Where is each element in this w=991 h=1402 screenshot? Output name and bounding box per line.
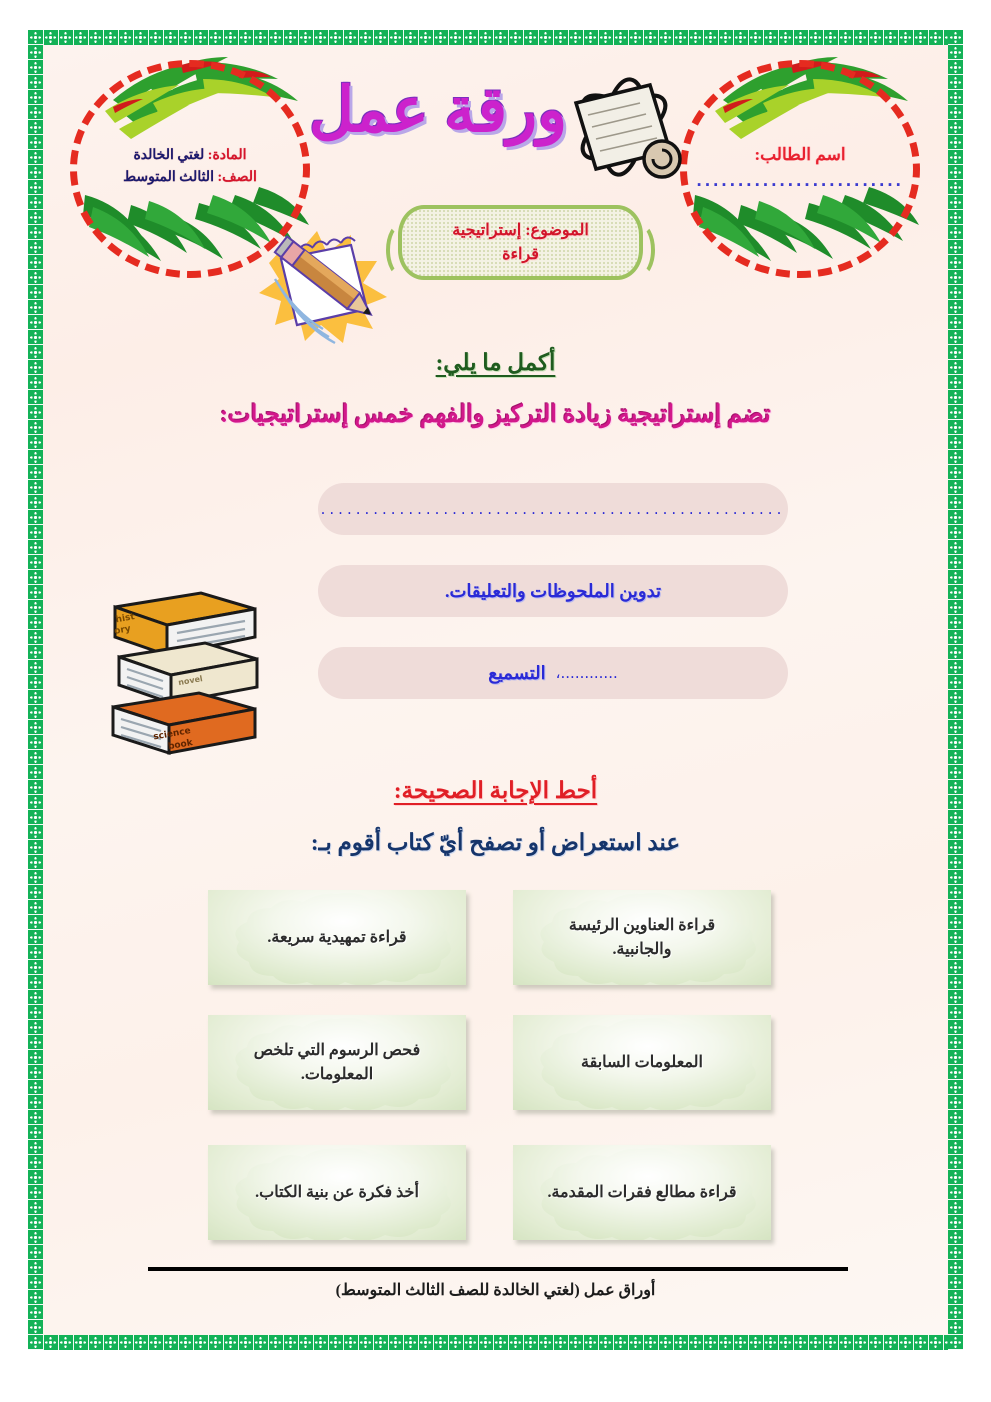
worksheet-content: المادة: لغتي الخالدة الصف: الثالث المتوس… xyxy=(43,45,948,1335)
topic-value-line2: قراءة xyxy=(502,246,539,263)
answer-pill-blank[interactable]: ........................................… xyxy=(318,483,788,535)
stack-of-books-icon: hist ory novel xyxy=(105,585,265,765)
grade-row: الصف: الثالث المتوسط xyxy=(77,167,303,189)
decorative-border-bottom xyxy=(28,1335,963,1350)
option-skim-label: قراءة تمهيدية سريعة. xyxy=(241,926,432,949)
decorative-border-left xyxy=(28,30,43,1350)
student-info-circle: اسم الطالب: ......................... xyxy=(680,60,920,278)
option-prior-info-label: المعلومات السابقة xyxy=(555,1051,729,1074)
topic-banner-text: الموضوع: إستراتيجية قراءة xyxy=(452,219,589,267)
grade-value: الثالث المتوسط xyxy=(123,170,214,185)
option-diagrams[interactable]: فحص الرسوم التي تلخص المعلومات. xyxy=(208,1015,466,1110)
option-headings[interactable]: قراءة العناوين الرئيسة والجانبية. xyxy=(513,890,771,985)
answer-pill-recitation[interactable]: ............، التسميع xyxy=(318,647,788,699)
answer-notes-text: تدوين الملحوظات والتعليقات. xyxy=(445,581,661,602)
option-diagrams-label: فحص الرسوم التي تلخص المعلومات. xyxy=(208,1039,466,1085)
footer-divider xyxy=(148,1267,848,1271)
grade-label: الصف: xyxy=(217,170,256,185)
scroll-diploma-icon xyxy=(558,67,688,192)
pencil-notepad-icon xyxy=(255,213,405,348)
student-name-input[interactable]: ......................... xyxy=(687,172,913,190)
topic-value-line1: إستراتيجية xyxy=(452,222,521,239)
section-heading-circle: أحط الإجابة الصحيحة: xyxy=(43,778,948,804)
subject-label: المادة: xyxy=(208,148,247,163)
student-info-text: اسم الطالب: ......................... xyxy=(687,145,913,190)
option-prior-info[interactable]: المعلومات السابقة xyxy=(513,1015,771,1110)
subject-row: المادة: لغتي الخالدة xyxy=(77,145,303,167)
answer-blank-dots[interactable]: ........................................… xyxy=(321,500,786,518)
page-title: ورقة عمل xyxy=(298,73,578,147)
option-headings-label: قراءة العناوين الرئيسة والجانبية. xyxy=(513,914,771,960)
subject-value: لغتي الخالدة xyxy=(133,148,204,163)
footer-text: أوراق عمل (لغتي الخالدة للصف الثالث المت… xyxy=(43,1280,948,1300)
circle-question: عند استعراض أو تصفح أيّ كتاب أقوم بـ: xyxy=(43,830,948,856)
subject-info-text: المادة: لغتي الخالدة الصف: الثالث المتوس… xyxy=(77,145,303,188)
completion-statement: تضم إستراتيجية زيادة التركيز والفهم خمس … xyxy=(43,400,948,429)
section-heading-complete: أكمل ما يلي: xyxy=(43,350,948,376)
answer-recitation-dots[interactable]: ............، xyxy=(556,664,618,682)
answer-pill-notes[interactable]: تدوين الملحوظات والتعليقات. xyxy=(318,565,788,617)
answer-recitation-text: التسميع xyxy=(488,663,545,684)
option-book-structure-label: أخذ فكرة عن بنية الكتاب. xyxy=(229,1181,445,1204)
student-name-label: اسم الطالب: xyxy=(687,145,913,165)
option-intro-paragraphs-label: قراءة مطالع فقرات المقدمة. xyxy=(521,1181,762,1204)
decorative-border-right xyxy=(948,30,963,1350)
option-skim[interactable]: قراءة تمهيدية سريعة. xyxy=(208,890,466,985)
option-book-structure[interactable]: أخذ فكرة عن بنية الكتاب. xyxy=(208,1145,466,1240)
option-intro-paragraphs[interactable]: قراءة مطالع فقرات المقدمة. xyxy=(513,1145,771,1240)
topic-label: الموضوع: xyxy=(525,222,589,239)
topic-banner: الموضوع: إستراتيجية قراءة xyxy=(398,205,643,280)
worksheet-page: المادة: لغتي الخالدة الصف: الثالث المتوس… xyxy=(0,0,991,1402)
decorative-border-top xyxy=(28,30,963,45)
